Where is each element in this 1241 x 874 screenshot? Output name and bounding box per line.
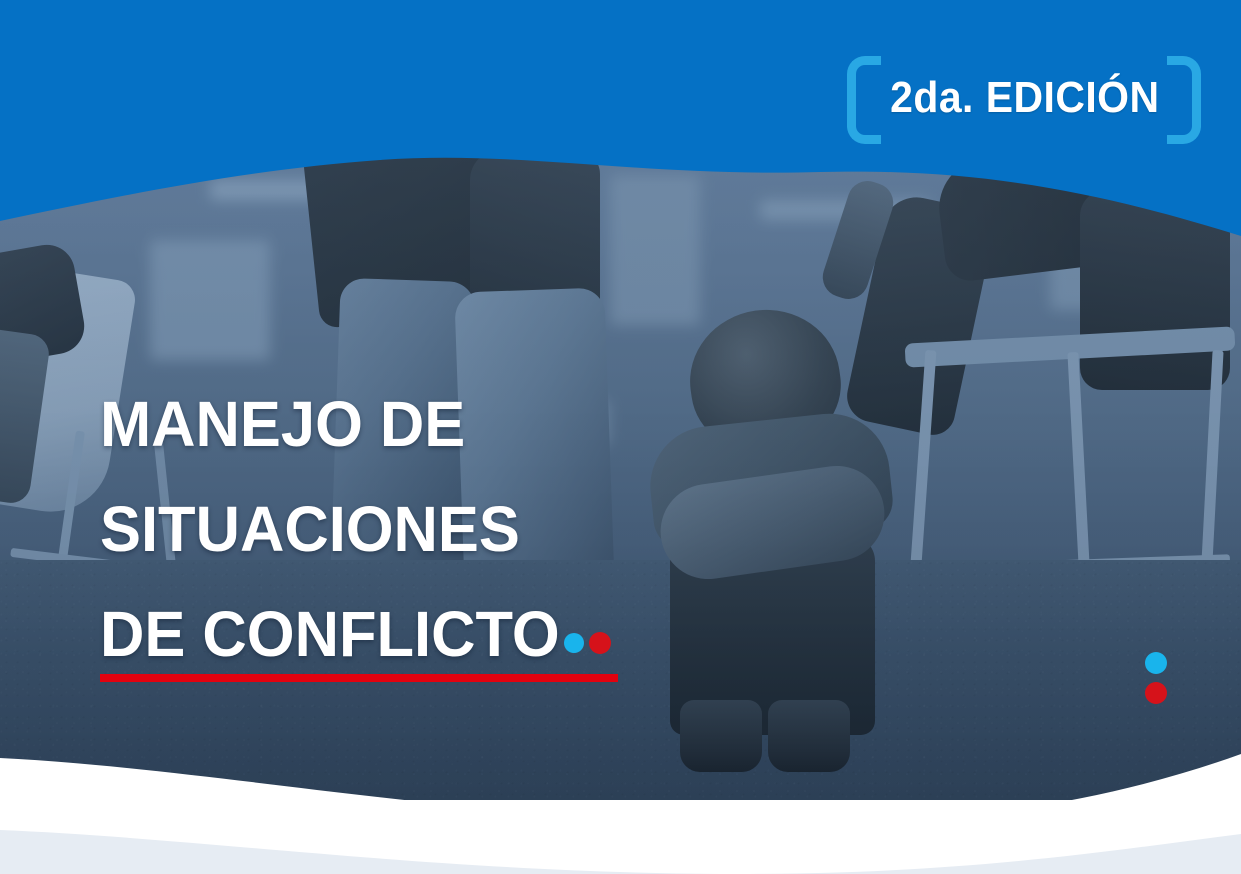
banner-title: MANEJO DE SITUACIONES DE CONFLICTO <box>100 372 579 687</box>
title-line-2: SITUACIONES <box>100 477 560 582</box>
title-underline-bar <box>100 674 618 682</box>
hero-banner: 2da. EDICIÓN MANEJO DE SITUACIONES DE CO… <box>0 0 1241 874</box>
title-line-1: MANEJO DE <box>100 372 560 477</box>
edition-badge: 2da. EDICIÓN <box>845 48 1205 148</box>
title-line-3: DE CONFLICTO <box>100 582 560 687</box>
accent-dot-red-inline <box>589 632 611 654</box>
accent-dot-cyan-right <box>1145 652 1167 674</box>
edition-badge-label: 2da. EDICIÓN <box>890 73 1159 123</box>
accent-dot-cyan-inline <box>564 633 584 653</box>
bracket-right-icon <box>1167 56 1201 144</box>
bracket-left-icon <box>847 56 881 144</box>
accent-dot-red-right <box>1145 682 1167 704</box>
